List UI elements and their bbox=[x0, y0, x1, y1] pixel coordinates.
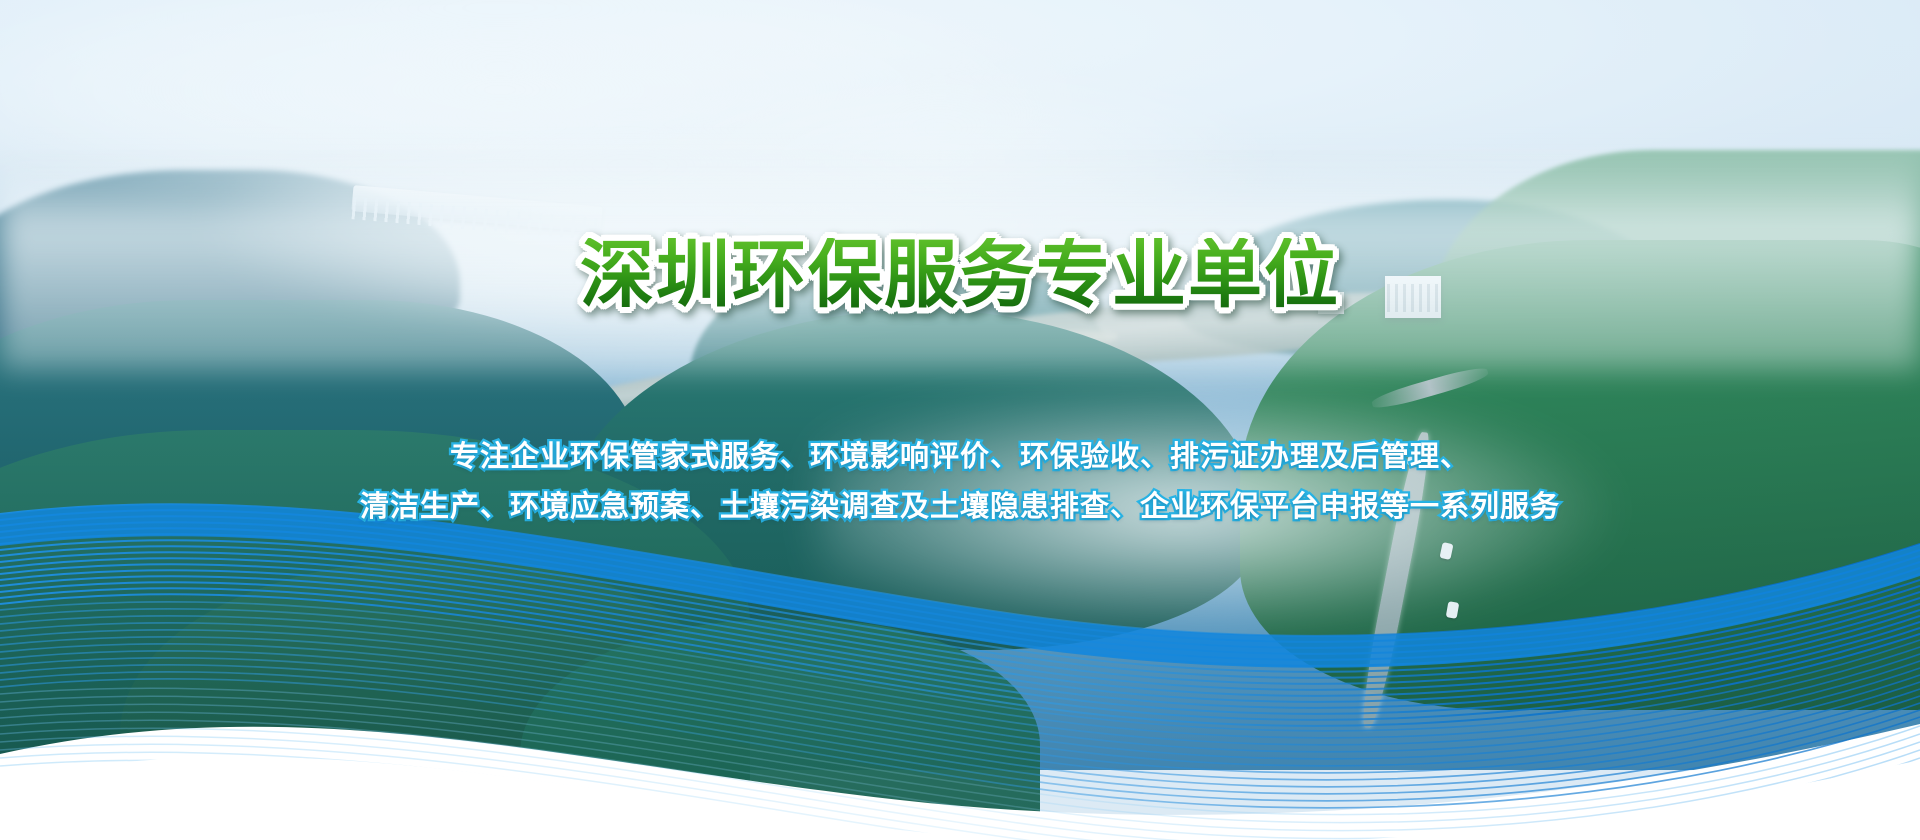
headline-container: 深圳环保服务专业单位 bbox=[0, 238, 1920, 312]
white-base-shape bbox=[0, 650, 1920, 840]
subtitle-line-1: 专注企业环保管家式服务、环境影响评价、环保验收、排污证办理及后管理、 bbox=[0, 432, 1920, 482]
hero-banner: 深圳环保服务专业单位 专注企业环保管家式服务、环境影响评价、环保验收、排污证办理… bbox=[0, 0, 1920, 840]
subtitle-container: 专注企业环保管家式服务、环境影响评价、环保验收、排污证办理及后管理、 清洁生产、… bbox=[0, 432, 1920, 532]
subtitle-line-2: 清洁生产、环境应急预案、土壤污染调查及土壤隐患排查、企业环保平台申报等一系列服务 bbox=[0, 482, 1920, 532]
banner-title: 深圳环保服务专业单位 bbox=[580, 238, 1340, 312]
